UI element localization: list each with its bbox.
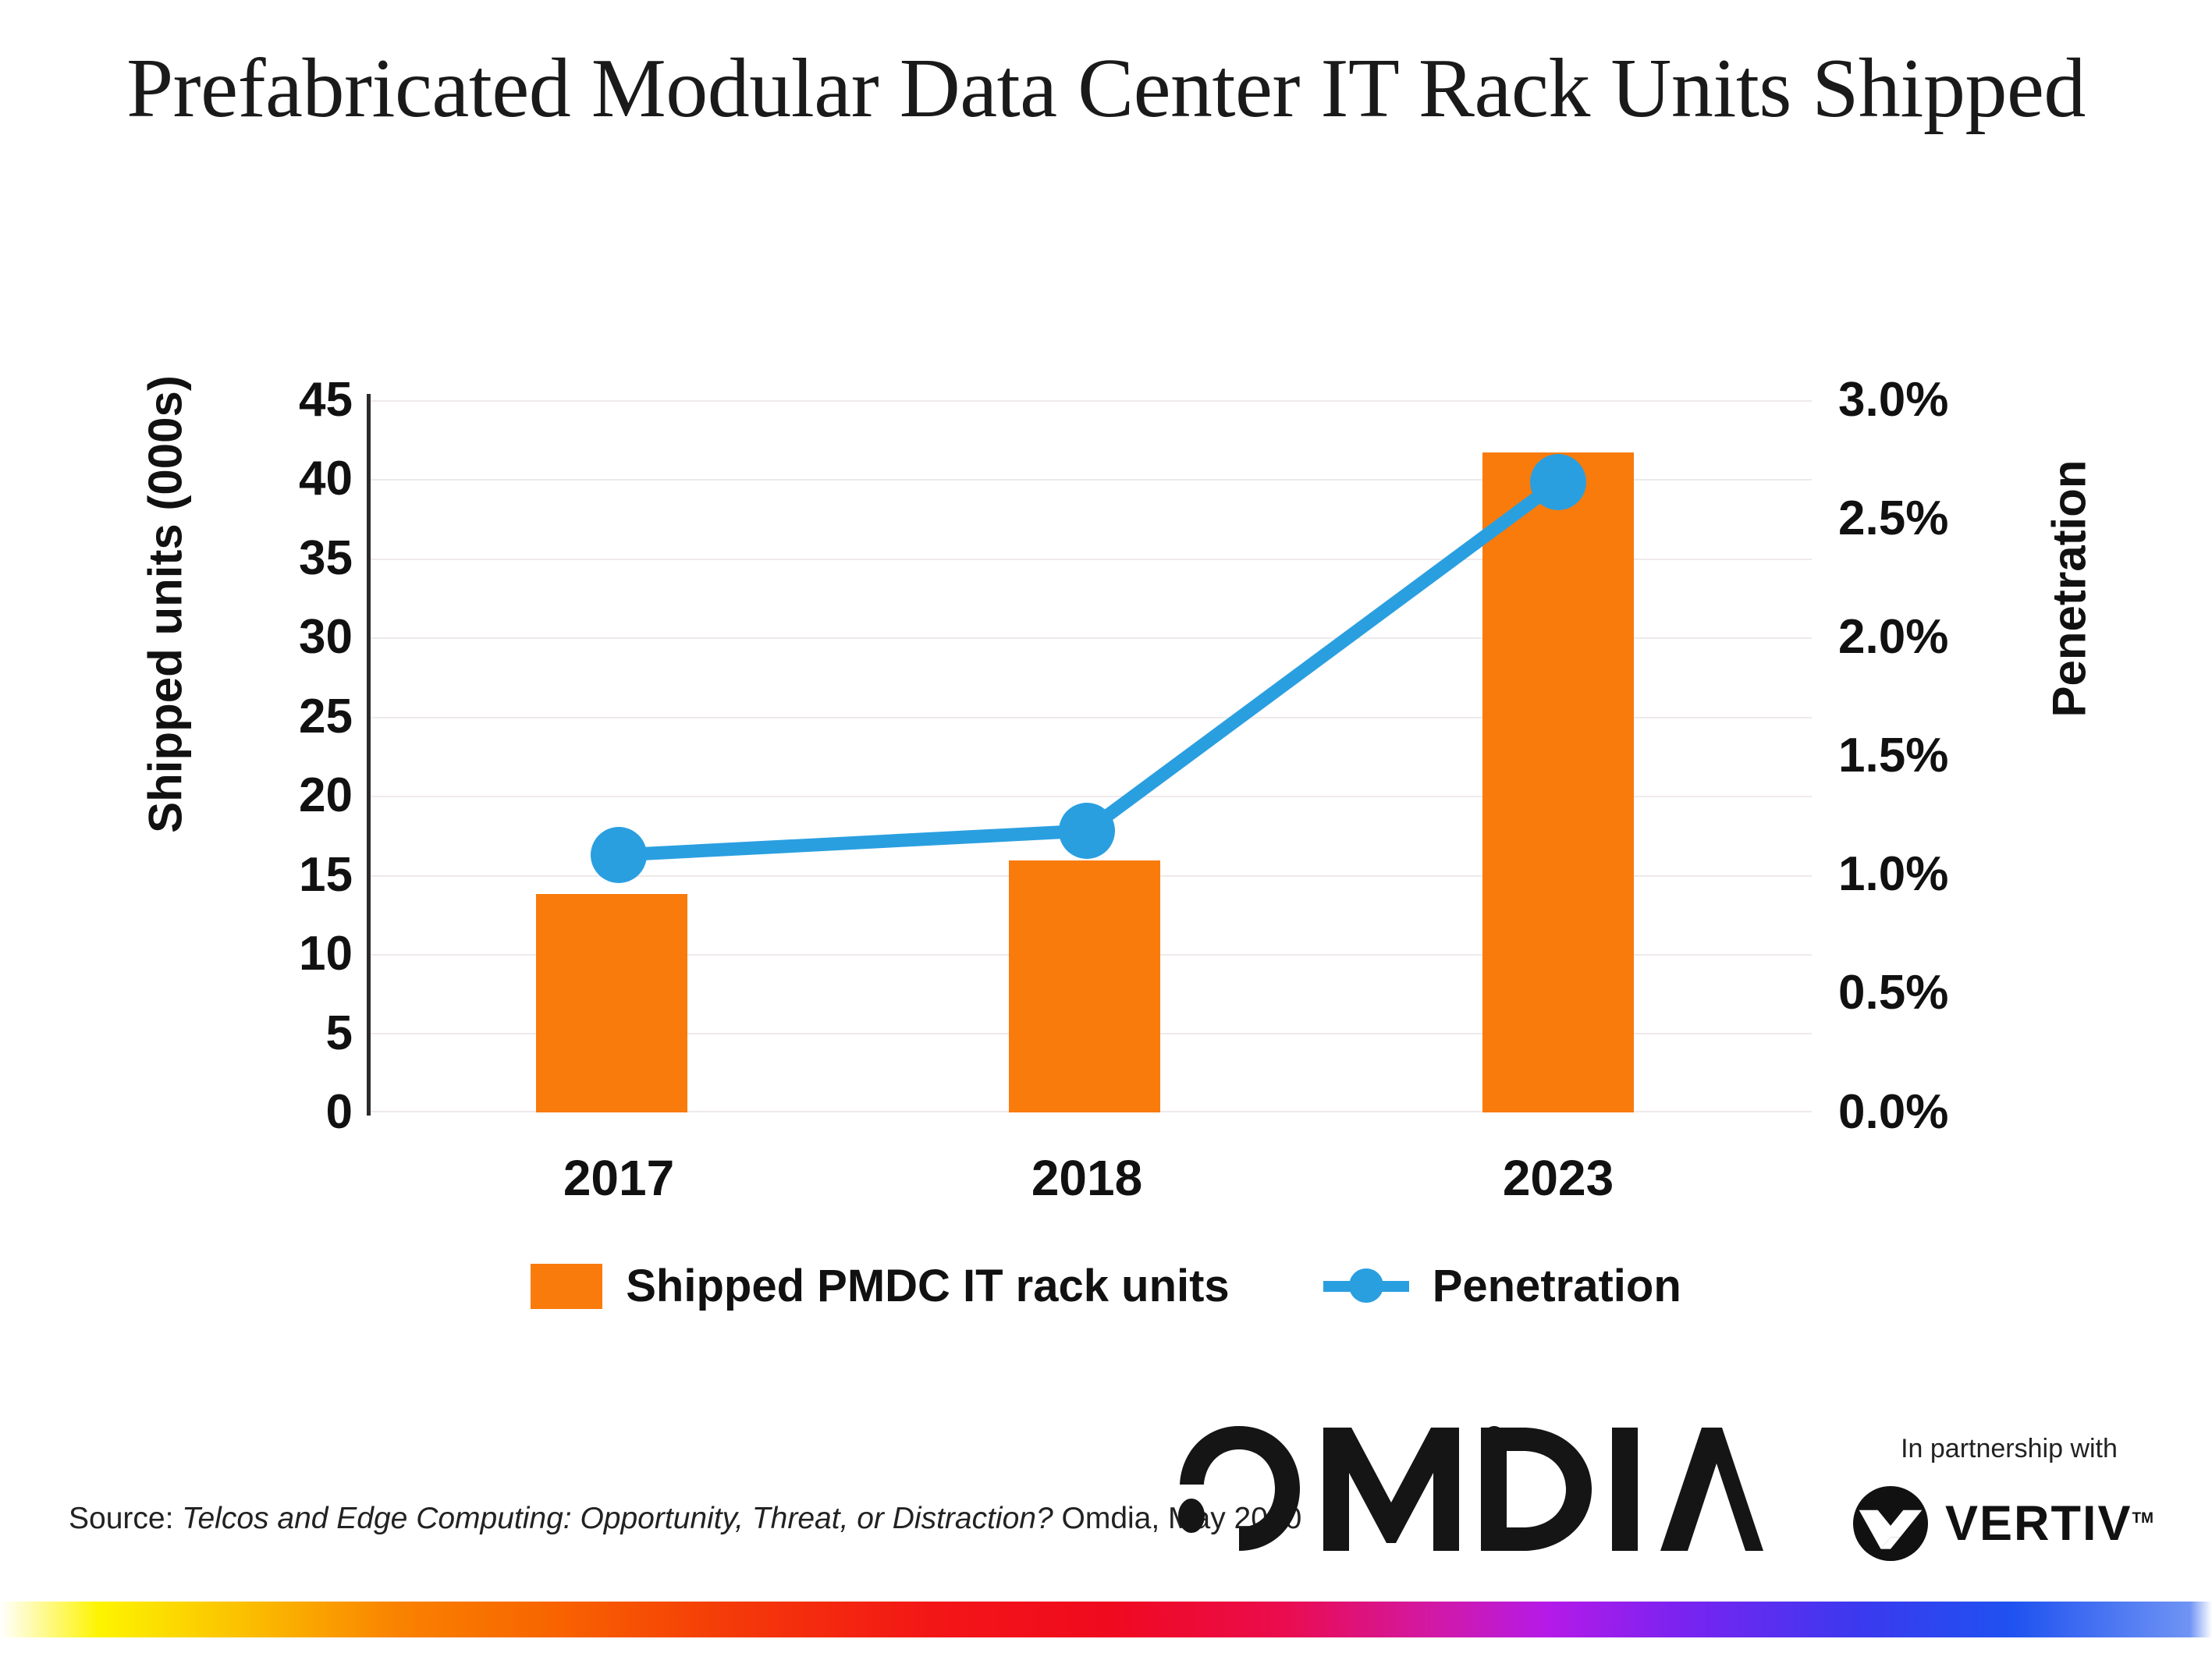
ytick-left-30: 30 — [197, 613, 353, 662]
page-title: Prefabricated Modular Data Center IT Rac… — [0, 41, 2212, 137]
bar-2017[interactable] — [536, 894, 687, 1112]
ytick-left-0: 0 — [197, 1088, 353, 1137]
vertiv-trademark-symbol: TM — [2132, 1510, 2153, 1527]
ytick-right-2-0: 2.0% — [1838, 613, 2041, 662]
ytick-right-1-0: 1.0% — [1838, 850, 2041, 899]
vertiv-mark-icon — [1853, 1486, 1928, 1561]
ytick-left-45: 45 — [197, 376, 353, 424]
legend-label-penetration: Penetration — [1433, 1260, 1681, 1312]
plot-area — [368, 400, 1812, 1112]
brand-gradient-bar — [0, 1602, 2212, 1637]
ytick-left-10: 10 — [197, 930, 353, 978]
xtick-2018: 2018 — [931, 1149, 1243, 1207]
ytick-left-5: 5 — [197, 1009, 353, 1058]
ytick-right-1-5: 1.5% — [1838, 732, 2041, 780]
legend-item-shipped-units[interactable]: Shipped PMDC IT rack units — [531, 1260, 1229, 1312]
omdia-logo — [1170, 1418, 1763, 1555]
ytick-left-20: 20 — [197, 772, 353, 820]
y-axis-line — [367, 394, 371, 1116]
partnership-label: In partnership with — [1853, 1434, 2165, 1464]
xtick-2023: 2023 — [1402, 1149, 1714, 1207]
ytick-left-35: 35 — [197, 534, 353, 583]
ytick-left-40: 40 — [197, 455, 353, 503]
bar-2023[interactable] — [1482, 452, 1634, 1112]
vertiv-logo: VERTIVTM — [1853, 1486, 2165, 1561]
ytick-right-2-5: 2.5% — [1838, 495, 2041, 543]
vertiv-wordmark-text: VERTIV — [1945, 1496, 2132, 1551]
legend-label-shipped-units: Shipped PMDC IT rack units — [626, 1260, 1229, 1312]
gridline — [368, 400, 1812, 402]
ytick-right-0-5: 0.5% — [1838, 969, 2041, 1017]
legend: Shipped PMDC IT rack units Penetration — [0, 1260, 2212, 1312]
xtick-2017: 2017 — [463, 1149, 775, 1207]
vertiv-wordmark: VERTIVTM — [1945, 1499, 2153, 1549]
y-axis-label-left: Shipped units (000s) — [139, 371, 193, 839]
ytick-left-25: 25 — [197, 693, 353, 741]
source-prefix: Source: — [69, 1502, 182, 1535]
legend-swatch-bar-icon — [531, 1264, 602, 1309]
ytick-left-15: 15 — [197, 851, 353, 899]
ytick-right-0-0: 0.0% — [1838, 1088, 2041, 1137]
legend-item-penetration[interactable]: Penetration — [1323, 1260, 1681, 1312]
y-axis-label-right: Penetration — [2043, 355, 2097, 823]
source-title: Telcos and Edge Computing: Opportunity, … — [182, 1502, 1053, 1535]
partner-block: In partnership with VERTIVTM — [1853, 1434, 2165, 1561]
bar-2018[interactable] — [1009, 860, 1160, 1112]
legend-swatch-line-icon — [1323, 1264, 1409, 1309]
ytick-right-3-0: 3.0% — [1838, 376, 2041, 424]
source-note: Source: Telcos and Edge Computing: Oppor… — [69, 1502, 1301, 1536]
